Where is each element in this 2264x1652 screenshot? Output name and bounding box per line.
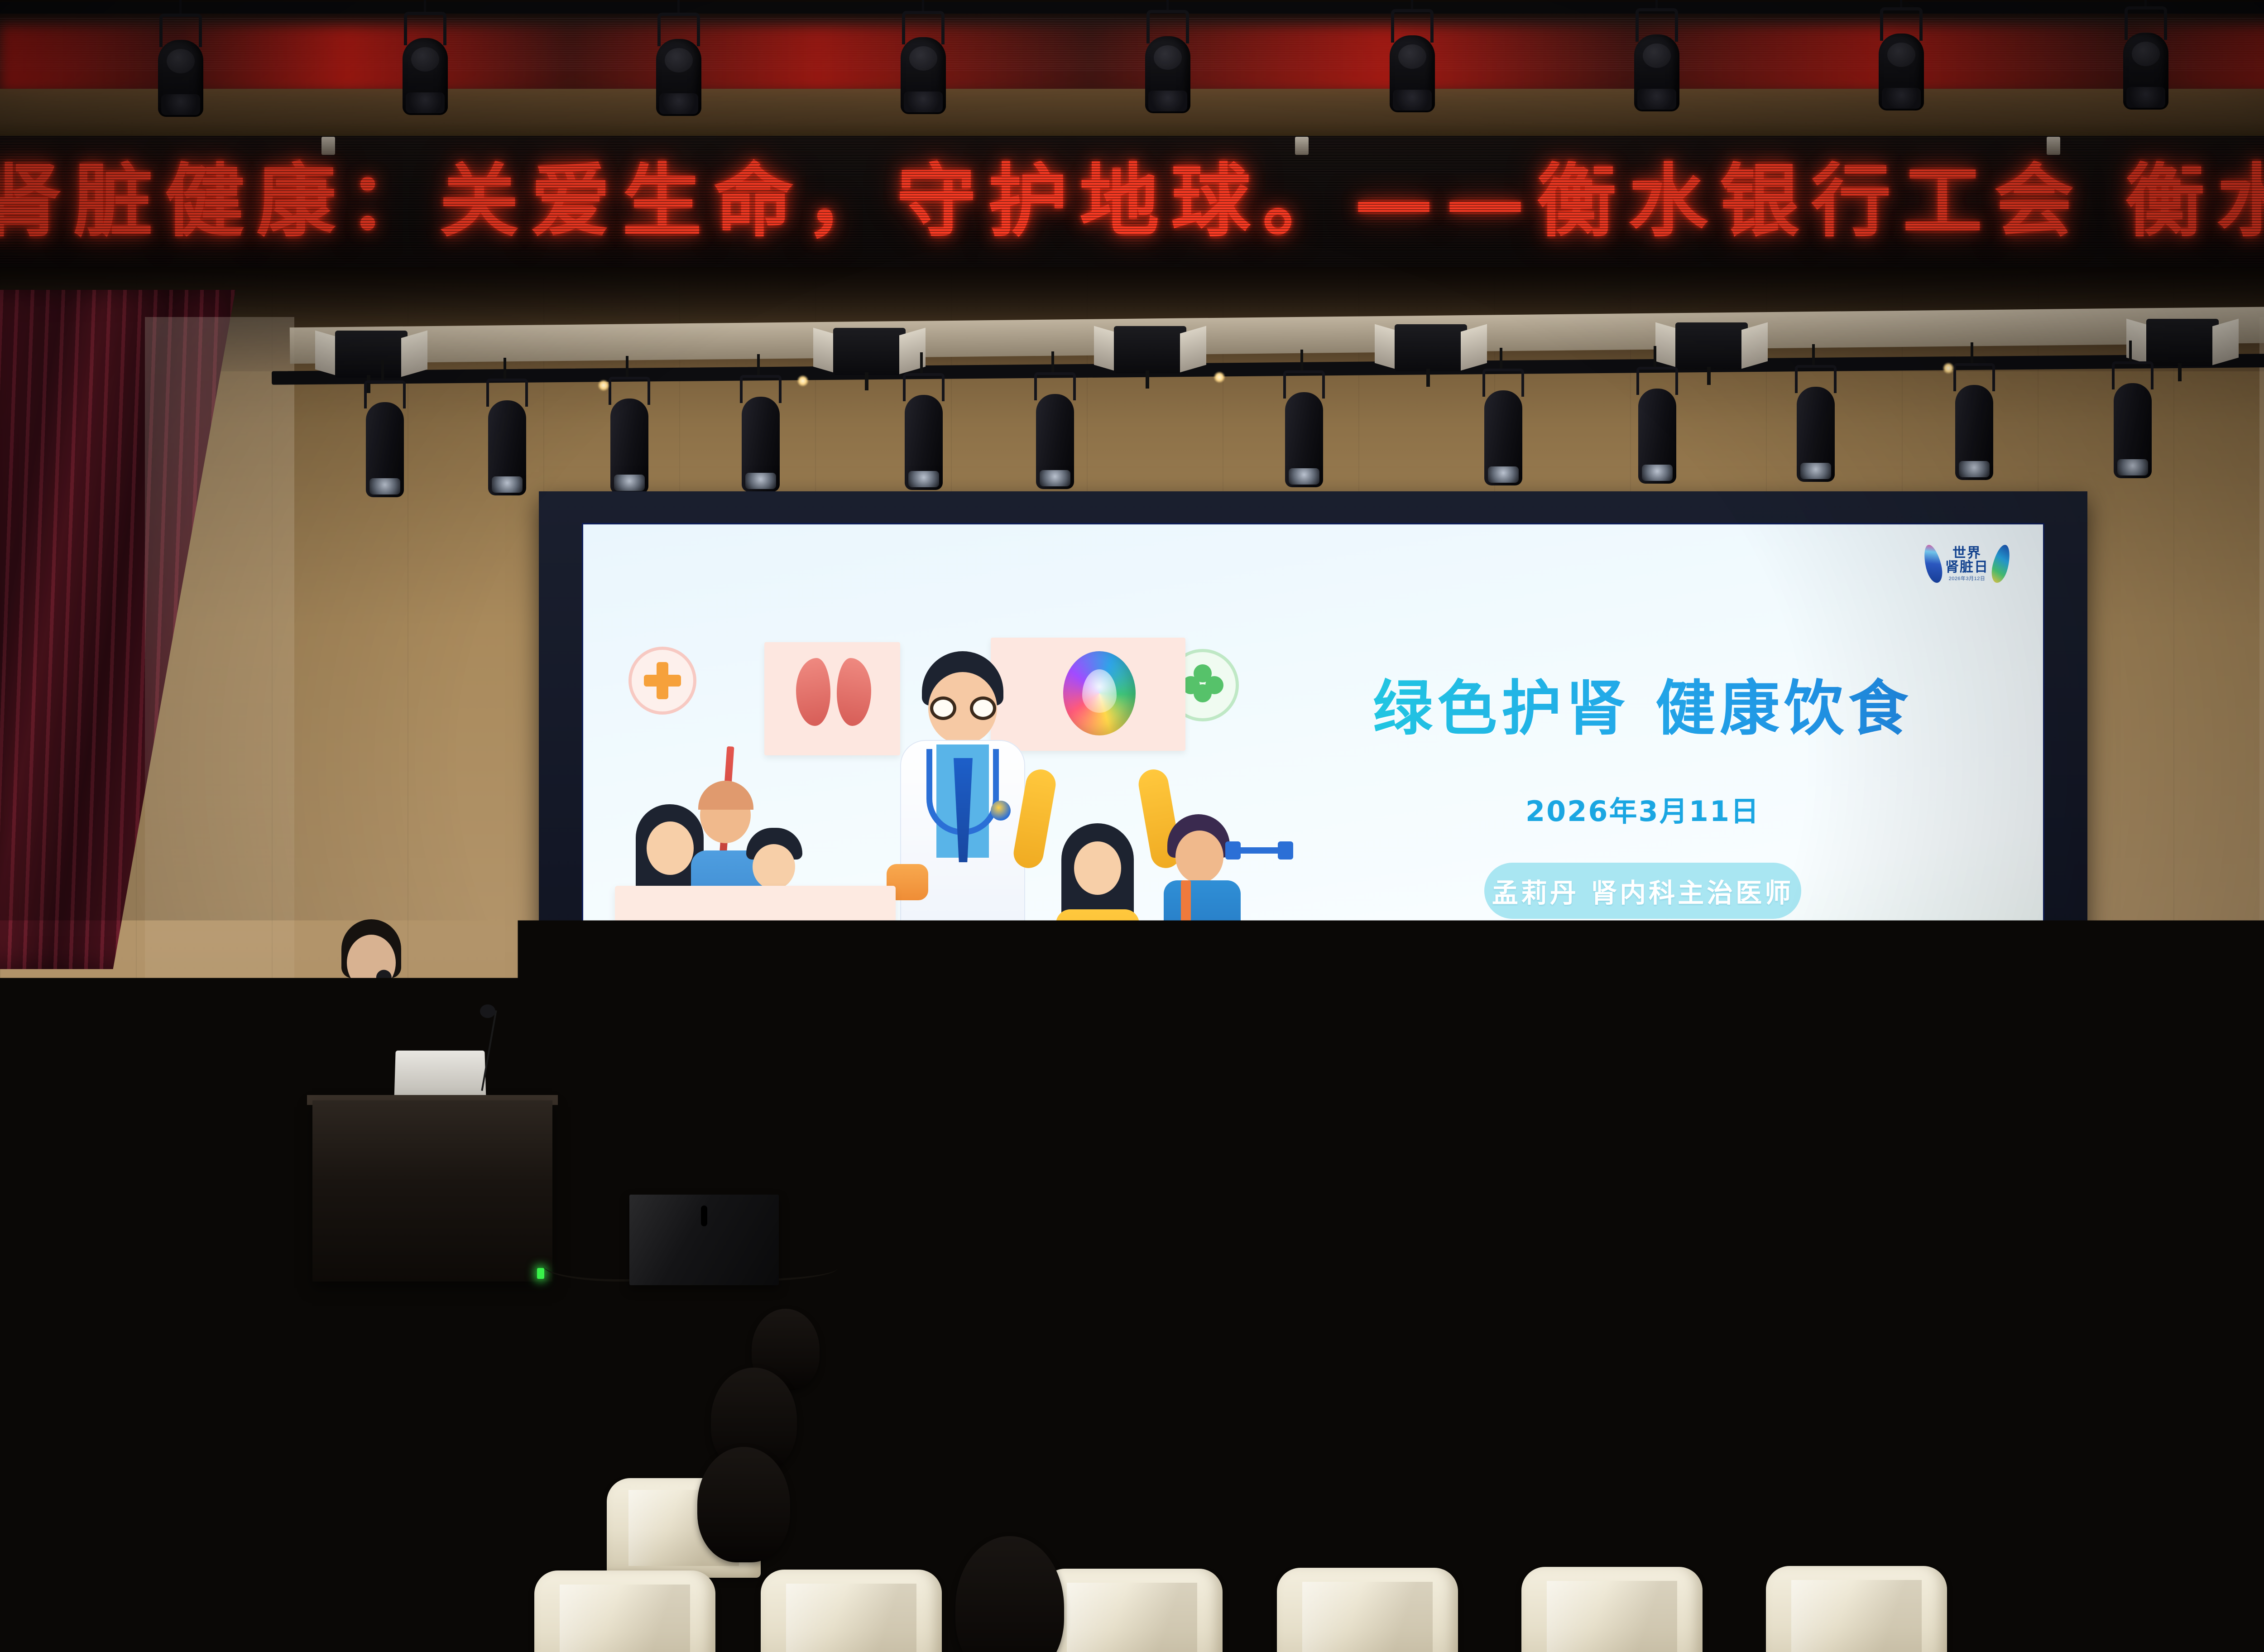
stage-side-chair bbox=[5, 1010, 118, 1209]
chair-text: 银行 bbox=[48, 1456, 69, 1471]
stage-monitor-speaker bbox=[1648, 1191, 1798, 1282]
chair bbox=[534, 1570, 715, 1652]
slide-illustration: 关爱肾脏 保护我们的地球 bbox=[615, 638, 1258, 1036]
footer-copyright: © World Kidney Day 2006 - 2026 bbox=[1862, 1152, 1948, 1160]
fresnel-light bbox=[1096, 318, 1204, 386]
gooseneck-mic-head-icon bbox=[480, 1004, 495, 1018]
green-health-ribbon bbox=[583, 936, 1308, 1072]
audience-head bbox=[1675, 1369, 1757, 1468]
presentation-slide: 世界 肾脏日 2026年3月12日 bbox=[583, 524, 2043, 1169]
kh-line-2: HEALTH bbox=[743, 1133, 801, 1147]
audience-head bbox=[697, 1447, 790, 1562]
audience-head bbox=[398, 1370, 475, 1465]
truss-bulb bbox=[797, 375, 809, 387]
apple-icon bbox=[837, 984, 905, 1052]
audience-head bbox=[1766, 1313, 1834, 1395]
slide-date: 2026年3月11日 bbox=[1290, 788, 1996, 829]
medical-cross-bubble-icon bbox=[628, 647, 696, 715]
wkd-name-2: Kidney bbox=[1697, 1143, 1725, 1150]
dumbbell-icon bbox=[1225, 841, 1293, 860]
truss-bulb bbox=[1943, 362, 1954, 374]
banner-downlight bbox=[321, 137, 335, 155]
glasses-icon bbox=[930, 696, 996, 720]
banner-downlight bbox=[1295, 137, 1309, 155]
audience-head bbox=[1816, 1444, 1906, 1557]
footer-tagline: Caring for People, Protecting the Planet bbox=[822, 1125, 959, 1155]
led-banner-text: 肾脏健康：关爱生命，守护地球。——衡水银行工会 衡水市 bbox=[0, 162, 2264, 241]
ceiling-wood-band bbox=[0, 89, 2264, 143]
vegetable-icon bbox=[927, 960, 1000, 1028]
chair bbox=[68, 1330, 181, 1398]
banner-downlight bbox=[2047, 137, 2060, 155]
wkd-20-years-logo: 20 Years World Kidney Day 12 MARCH 2026 bbox=[1684, 1118, 1738, 1162]
ceiling-red-glow bbox=[0, 25, 2264, 93]
presenter-badge: 孟莉丹 肾内科主治医师 bbox=[1484, 863, 1801, 919]
kidney-poster bbox=[764, 642, 900, 755]
corner-logo-date: 2026年3月12日 bbox=[1945, 576, 1989, 582]
joint-line-1: World Kidney Day is bbox=[1862, 1120, 1948, 1128]
stage-monitor-speaker bbox=[2033, 1191, 2182, 1282]
footer-divider bbox=[1854, 1124, 1855, 1156]
stage-monitor-speaker bbox=[1050, 1192, 1200, 1282]
presenter-name-and-title: 孟莉丹 肾内科主治医师 bbox=[1492, 872, 1794, 910]
power-indicator-led bbox=[537, 1268, 544, 1279]
audience-head bbox=[1549, 1445, 1641, 1560]
chair bbox=[1132, 1396, 1263, 1477]
chair bbox=[0, 1481, 145, 1580]
kidney-blob-icon bbox=[1989, 543, 2013, 585]
wall-light-panel bbox=[145, 317, 294, 1005]
kh-line-1: KIDNEY bbox=[743, 1119, 801, 1133]
tagline-line-1: Caring for People, bbox=[822, 1125, 959, 1140]
led-scrolling-banner: 肾脏健康：关爱生命，守护地球。——衡水银行工会 衡水市 bbox=[0, 136, 2264, 267]
chair bbox=[1766, 1566, 1947, 1652]
truss-bulb bbox=[1214, 371, 1225, 383]
slide-footer: KIDNEY HEALTH FOR ALL Caring for People,… bbox=[583, 1110, 2043, 1169]
ifkf-wka-logo: IFKF-WKA bbox=[1883, 1137, 1935, 1151]
stage-monitor-speaker bbox=[629, 1195, 779, 1285]
chair bbox=[1159, 1476, 1313, 1576]
kh-line-3: FOR ALL bbox=[743, 1147, 801, 1160]
slide-title: 绿色护肾 健康饮食 bbox=[1290, 660, 1996, 747]
projection-screen[interactable]: 世界 肾脏日 2026年3月12日 bbox=[582, 523, 2044, 1171]
chair bbox=[1041, 1569, 1223, 1652]
joint-initiative-block: World Kidney Day is a joint initiative o… bbox=[1862, 1120, 1948, 1159]
wkd-name-1: World bbox=[1697, 1136, 1725, 1143]
audience-head bbox=[1019, 1370, 1096, 1465]
ceiling-zone bbox=[0, 0, 2264, 136]
wkd-years-number: 20 bbox=[1697, 1119, 1725, 1132]
wkd-hashtags: #WorldKidneyDay #KidneyHealthForAll #Our… bbox=[1745, 1115, 1847, 1165]
world-kidney-day-footer-block: 20 Years World Kidney Day 12 MARCH 2026 … bbox=[1684, 1115, 1948, 1165]
chair bbox=[761, 1570, 942, 1652]
kidney-blob-icon bbox=[1921, 543, 1945, 585]
wkd-name-3: Day bbox=[1697, 1150, 1725, 1157]
chair bbox=[1386, 1476, 1540, 1576]
ceiling-truss-bar bbox=[0, 2, 2264, 14]
audience-head bbox=[897, 1445, 987, 1559]
joint-line-2: a joint initiative of bbox=[1862, 1128, 1948, 1135]
chair bbox=[0, 1571, 163, 1652]
fresnel-light bbox=[1377, 316, 1485, 384]
wall-light-panel bbox=[2259, 317, 2264, 1005]
slide-text-block: 绿色护肾 健康饮食 2026年3月11日 孟莉丹 肾内科主治医师 bbox=[1290, 660, 1996, 919]
corner-logo-line1: 世界 bbox=[1945, 546, 1989, 561]
speaker-podium bbox=[312, 1100, 552, 1282]
corner-logo-line2: 肾脏日 bbox=[1945, 560, 1989, 575]
audience-head bbox=[158, 1449, 249, 1562]
healthy-plate-icon bbox=[1018, 943, 1154, 1015]
hashtag-1: #WorldKidneyDay bbox=[1745, 1115, 1847, 1128]
wkd-website[interactable]: worldkidneyday.org bbox=[1745, 1153, 1837, 1164]
hashtag-3: #OurKidneysOurPlanet bbox=[1745, 1140, 1847, 1153]
hashtag-2: #KidneyHealthForAll bbox=[1745, 1127, 1847, 1140]
chair bbox=[254, 1330, 367, 1397]
globe-icon bbox=[1063, 651, 1136, 735]
chair: 有温度的银行 bbox=[1358, 1395, 1490, 1476]
chair bbox=[1277, 1568, 1458, 1652]
world-kidney-day-corner-logo: 世界 肾脏日 2026年3月12日 bbox=[1917, 537, 2017, 591]
led-pixel-mask bbox=[0, 136, 2264, 267]
chair bbox=[1540, 1328, 1653, 1396]
truss-bulb bbox=[598, 379, 609, 391]
medicine-capsule-icon bbox=[764, 1004, 819, 1056]
taichi-exercise-icon bbox=[696, 1004, 746, 1063]
chair bbox=[2155, 1565, 2264, 1652]
kidney-health-globe-icon bbox=[678, 1118, 722, 1162]
podium-side-panel bbox=[290, 1109, 315, 1276]
chair: 银行 bbox=[27, 1399, 158, 1481]
chair-text: 有温度的银行 bbox=[1379, 1452, 1442, 1466]
audience-head bbox=[1313, 1306, 1386, 1392]
isn-logo: ISN bbox=[1862, 1138, 1879, 1150]
audience-head bbox=[2033, 1318, 2110, 1404]
audience-head bbox=[2065, 1443, 2153, 1555]
kidney-health-for-all-wordmark: KIDNEY HEALTH FOR ALL bbox=[743, 1119, 801, 1161]
chair bbox=[190, 1571, 371, 1652]
audience-seating-area: 银行 有温度的银行 自己的银行 bbox=[0, 1327, 2264, 1652]
kidney-icon bbox=[796, 658, 871, 726]
wkd-date: 12 MARCH 2026 bbox=[1697, 1157, 1725, 1161]
tagline-line-2: Protecting the Planet bbox=[822, 1140, 959, 1155]
chair bbox=[1159, 1329, 1272, 1397]
auditorium-scene: 肾脏健康：关爱生命，守护地球。——衡水银行工会 衡水市 bbox=[0, 0, 2264, 1652]
